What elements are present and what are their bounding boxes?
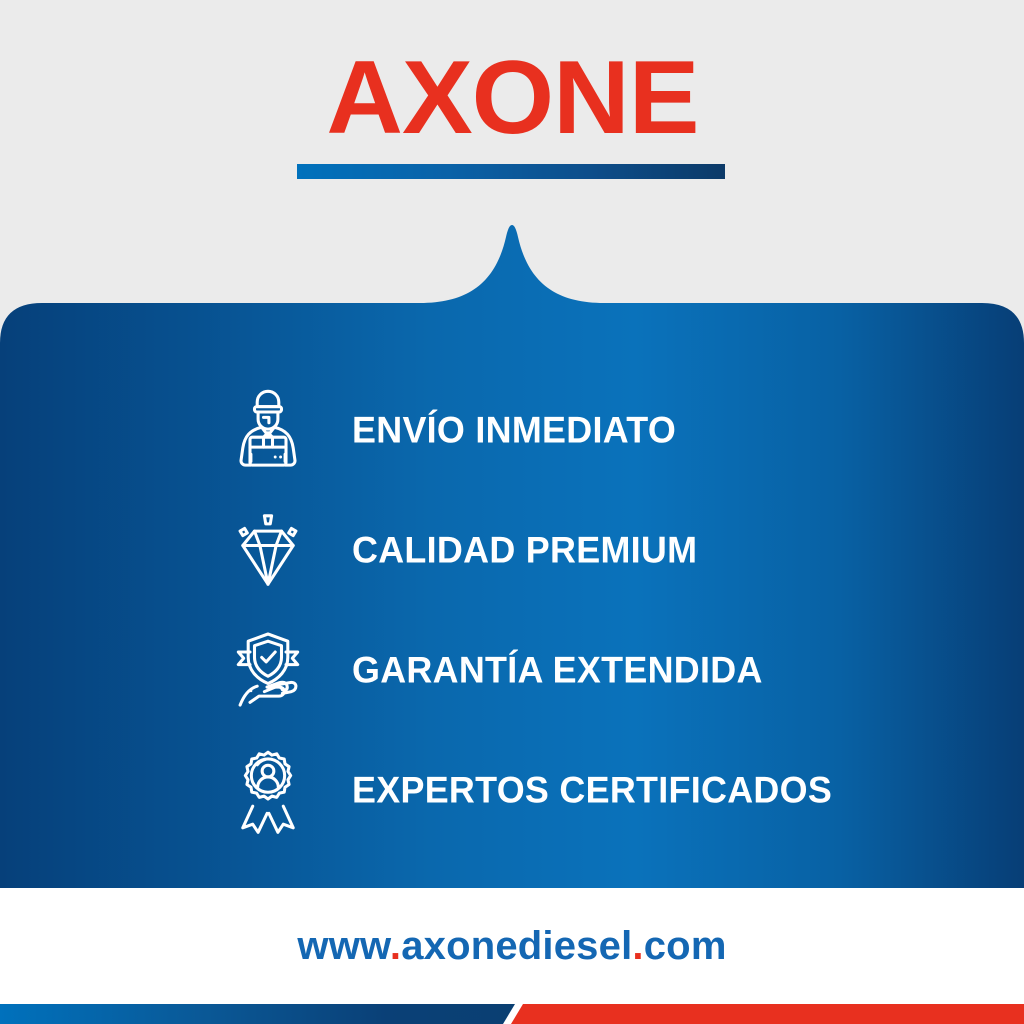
footer-bar-red [511,1004,1024,1024]
website-dot-2: . [632,924,643,968]
award-badge-person-icon [222,744,314,836]
poster-canvas: AXONE [0,0,1024,1024]
feature-label-garantia-extendida: GARANTÍA EXTENDIDA [352,652,763,689]
feature-item-garantia-extendida[interactable]: GARANTÍA EXTENDIDA [0,610,1024,730]
website-url[interactable]: www.axonediesel.com [0,926,1024,966]
website-prefix: www [297,924,389,968]
footer-bar-blue [0,1004,515,1024]
delivery-person-box-icon [222,384,314,476]
brand-wordmark: AXONE [326,46,698,150]
brand-underline-bar [297,164,725,179]
diamond-gem-icon [222,504,314,596]
feature-item-expertos-certificados[interactable]: EXPERTOS CERTIFICADOS [0,730,1024,850]
feature-item-calidad-premium[interactable]: CALIDAD PREMIUM [0,490,1024,610]
feature-label-envio-inmediato: ENVÍO INMEDIATO [352,412,676,449]
feature-list: ENVÍO INMEDIATO CALIDAD P [0,370,1024,850]
website-dot-1: . [390,924,401,968]
brand-header: AXONE [0,46,1024,150]
website-tld: com [644,924,727,968]
website-domain: axonediesel [401,924,632,968]
feature-item-envio-inmediato[interactable]: ENVÍO INMEDIATO [0,370,1024,490]
footer-accent-bars [0,988,1024,1024]
shield-check-hand-icon [222,624,314,716]
feature-label-calidad-premium: CALIDAD PREMIUM [352,532,697,569]
feature-label-expertos-certificados: EXPERTOS CERTIFICADOS [352,772,832,809]
